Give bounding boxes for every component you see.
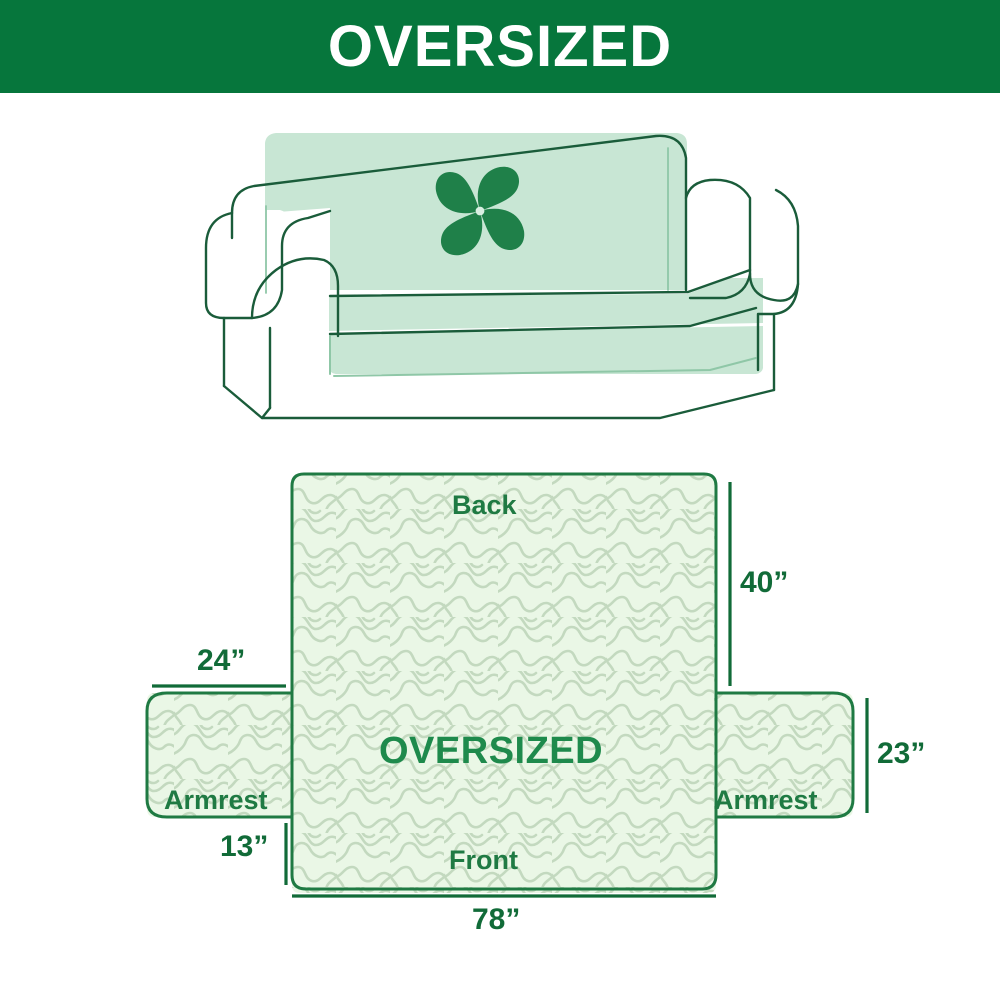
label-back: Back bbox=[452, 492, 517, 519]
dim-label-front-height: 13” bbox=[220, 832, 268, 862]
label-armrest-left: Armrest bbox=[164, 787, 268, 814]
label-front: Front bbox=[449, 847, 518, 874]
product-dimension-infographic: OVERSIZED bbox=[0, 0, 1000, 1000]
sofa-svg bbox=[190, 118, 810, 438]
header-banner: OVERSIZED bbox=[0, 0, 1000, 93]
pattern-svg bbox=[120, 455, 1000, 935]
label-armrest-right: Armrest bbox=[714, 787, 818, 814]
slipcover-flat-pattern: Back OVERSIZED Armrest Armrest Front 40”… bbox=[120, 455, 1000, 935]
sofa-right-arm-outer bbox=[690, 188, 776, 278]
sofa-skirt-bottom bbox=[262, 408, 270, 418]
sofa-illustration bbox=[190, 118, 810, 438]
pattern-body bbox=[120, 455, 1000, 935]
page-title: OVERSIZED bbox=[328, 18, 672, 76]
label-center-size: OVERSIZED bbox=[379, 732, 603, 770]
sofa-skirt bbox=[224, 386, 774, 418]
dim-label-back-height: 40” bbox=[740, 568, 788, 598]
dim-label-armrest-height: 23” bbox=[877, 739, 925, 769]
dim-label-total-width: 78” bbox=[472, 905, 520, 935]
dim-label-back-offset: 24” bbox=[197, 646, 245, 676]
